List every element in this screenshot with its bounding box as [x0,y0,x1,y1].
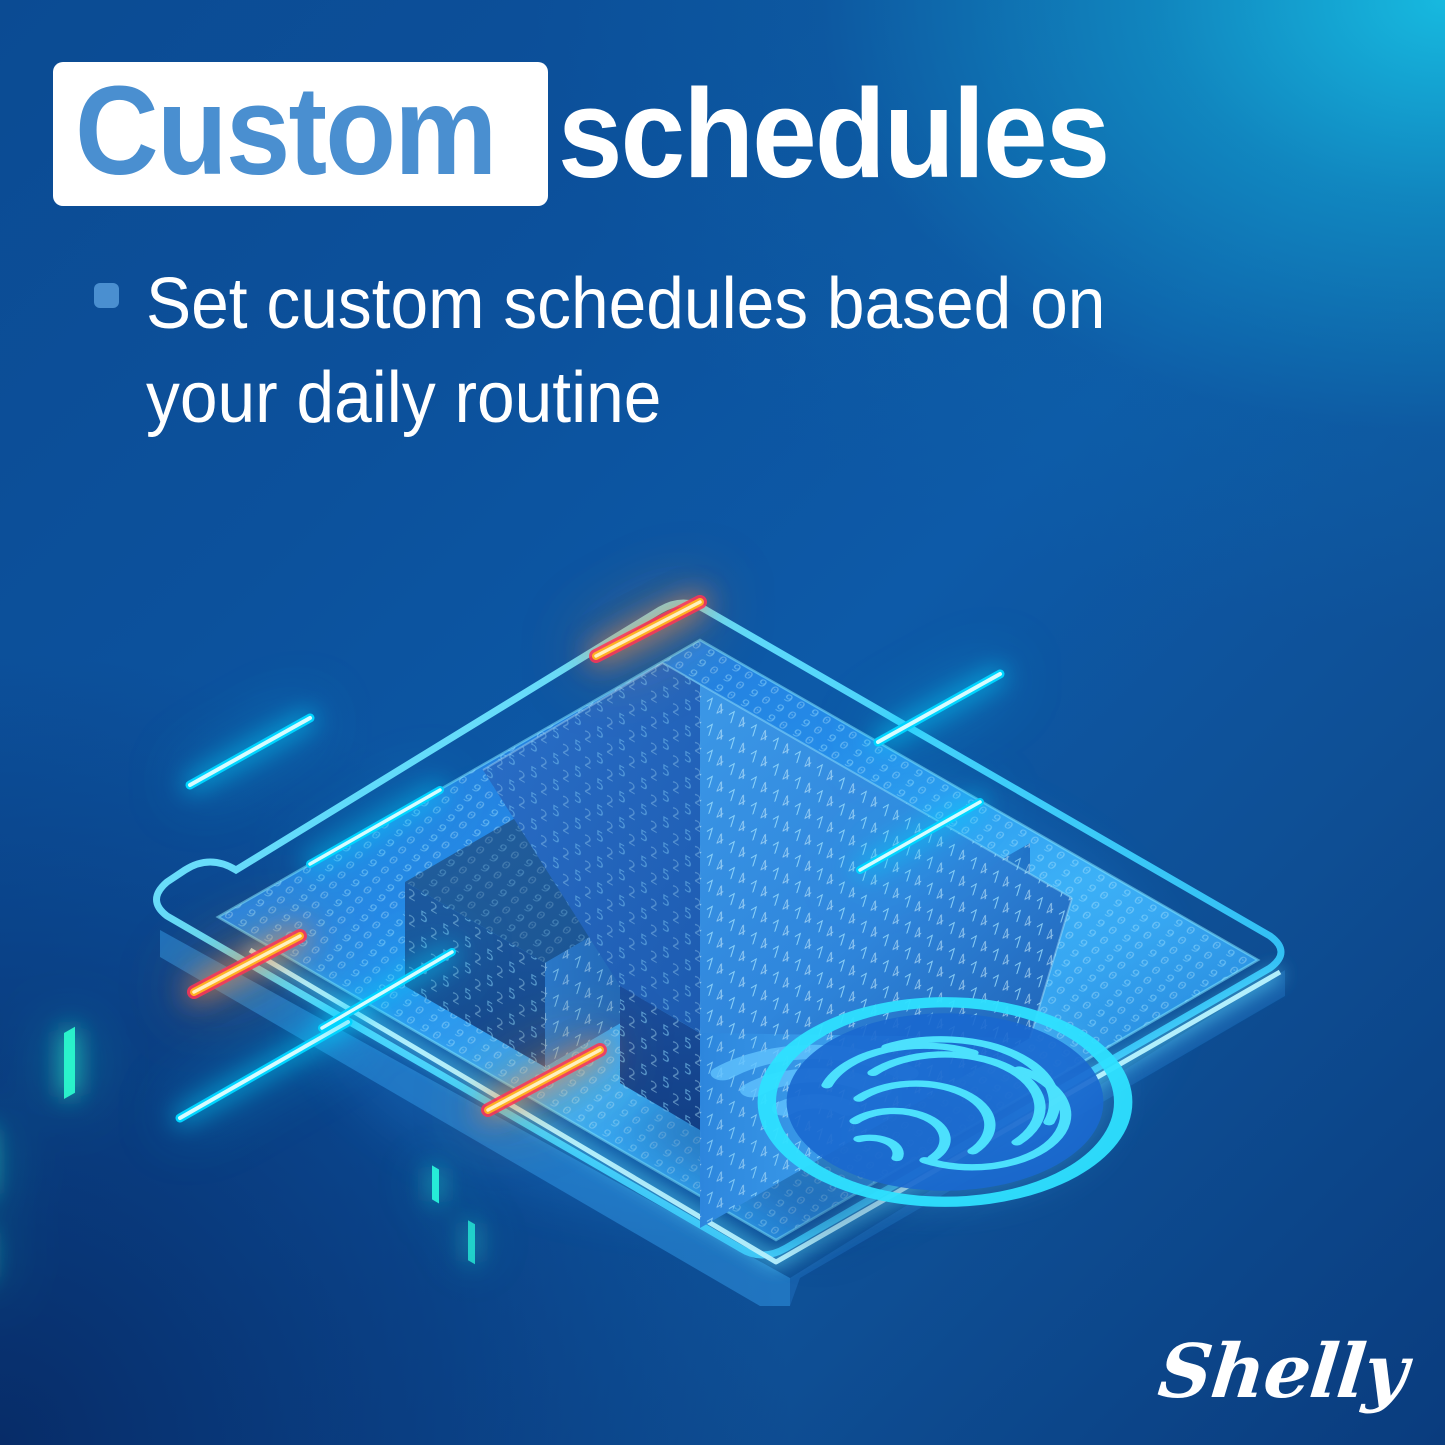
bullet-square-icon [94,283,119,308]
poster-canvas: Custom schedules Set custom schedules ba… [0,0,1445,1445]
headline-accent-box: Custom [53,62,548,206]
subtitle-bullet-item: Set custom schedules based on your daily… [94,258,1274,445]
illustration-isometric-smart-home: 5 2 7 4 9 0 [0,430,1445,1360]
page-title: Custom schedules [53,62,1156,206]
subtitle-text: Set custom schedules based on your daily… [146,258,1180,445]
headline-accent-word: Custom [75,68,495,194]
headline-rest-word: schedules [558,71,1108,197]
shelly-logo: Shelly [1156,1335,1411,1409]
